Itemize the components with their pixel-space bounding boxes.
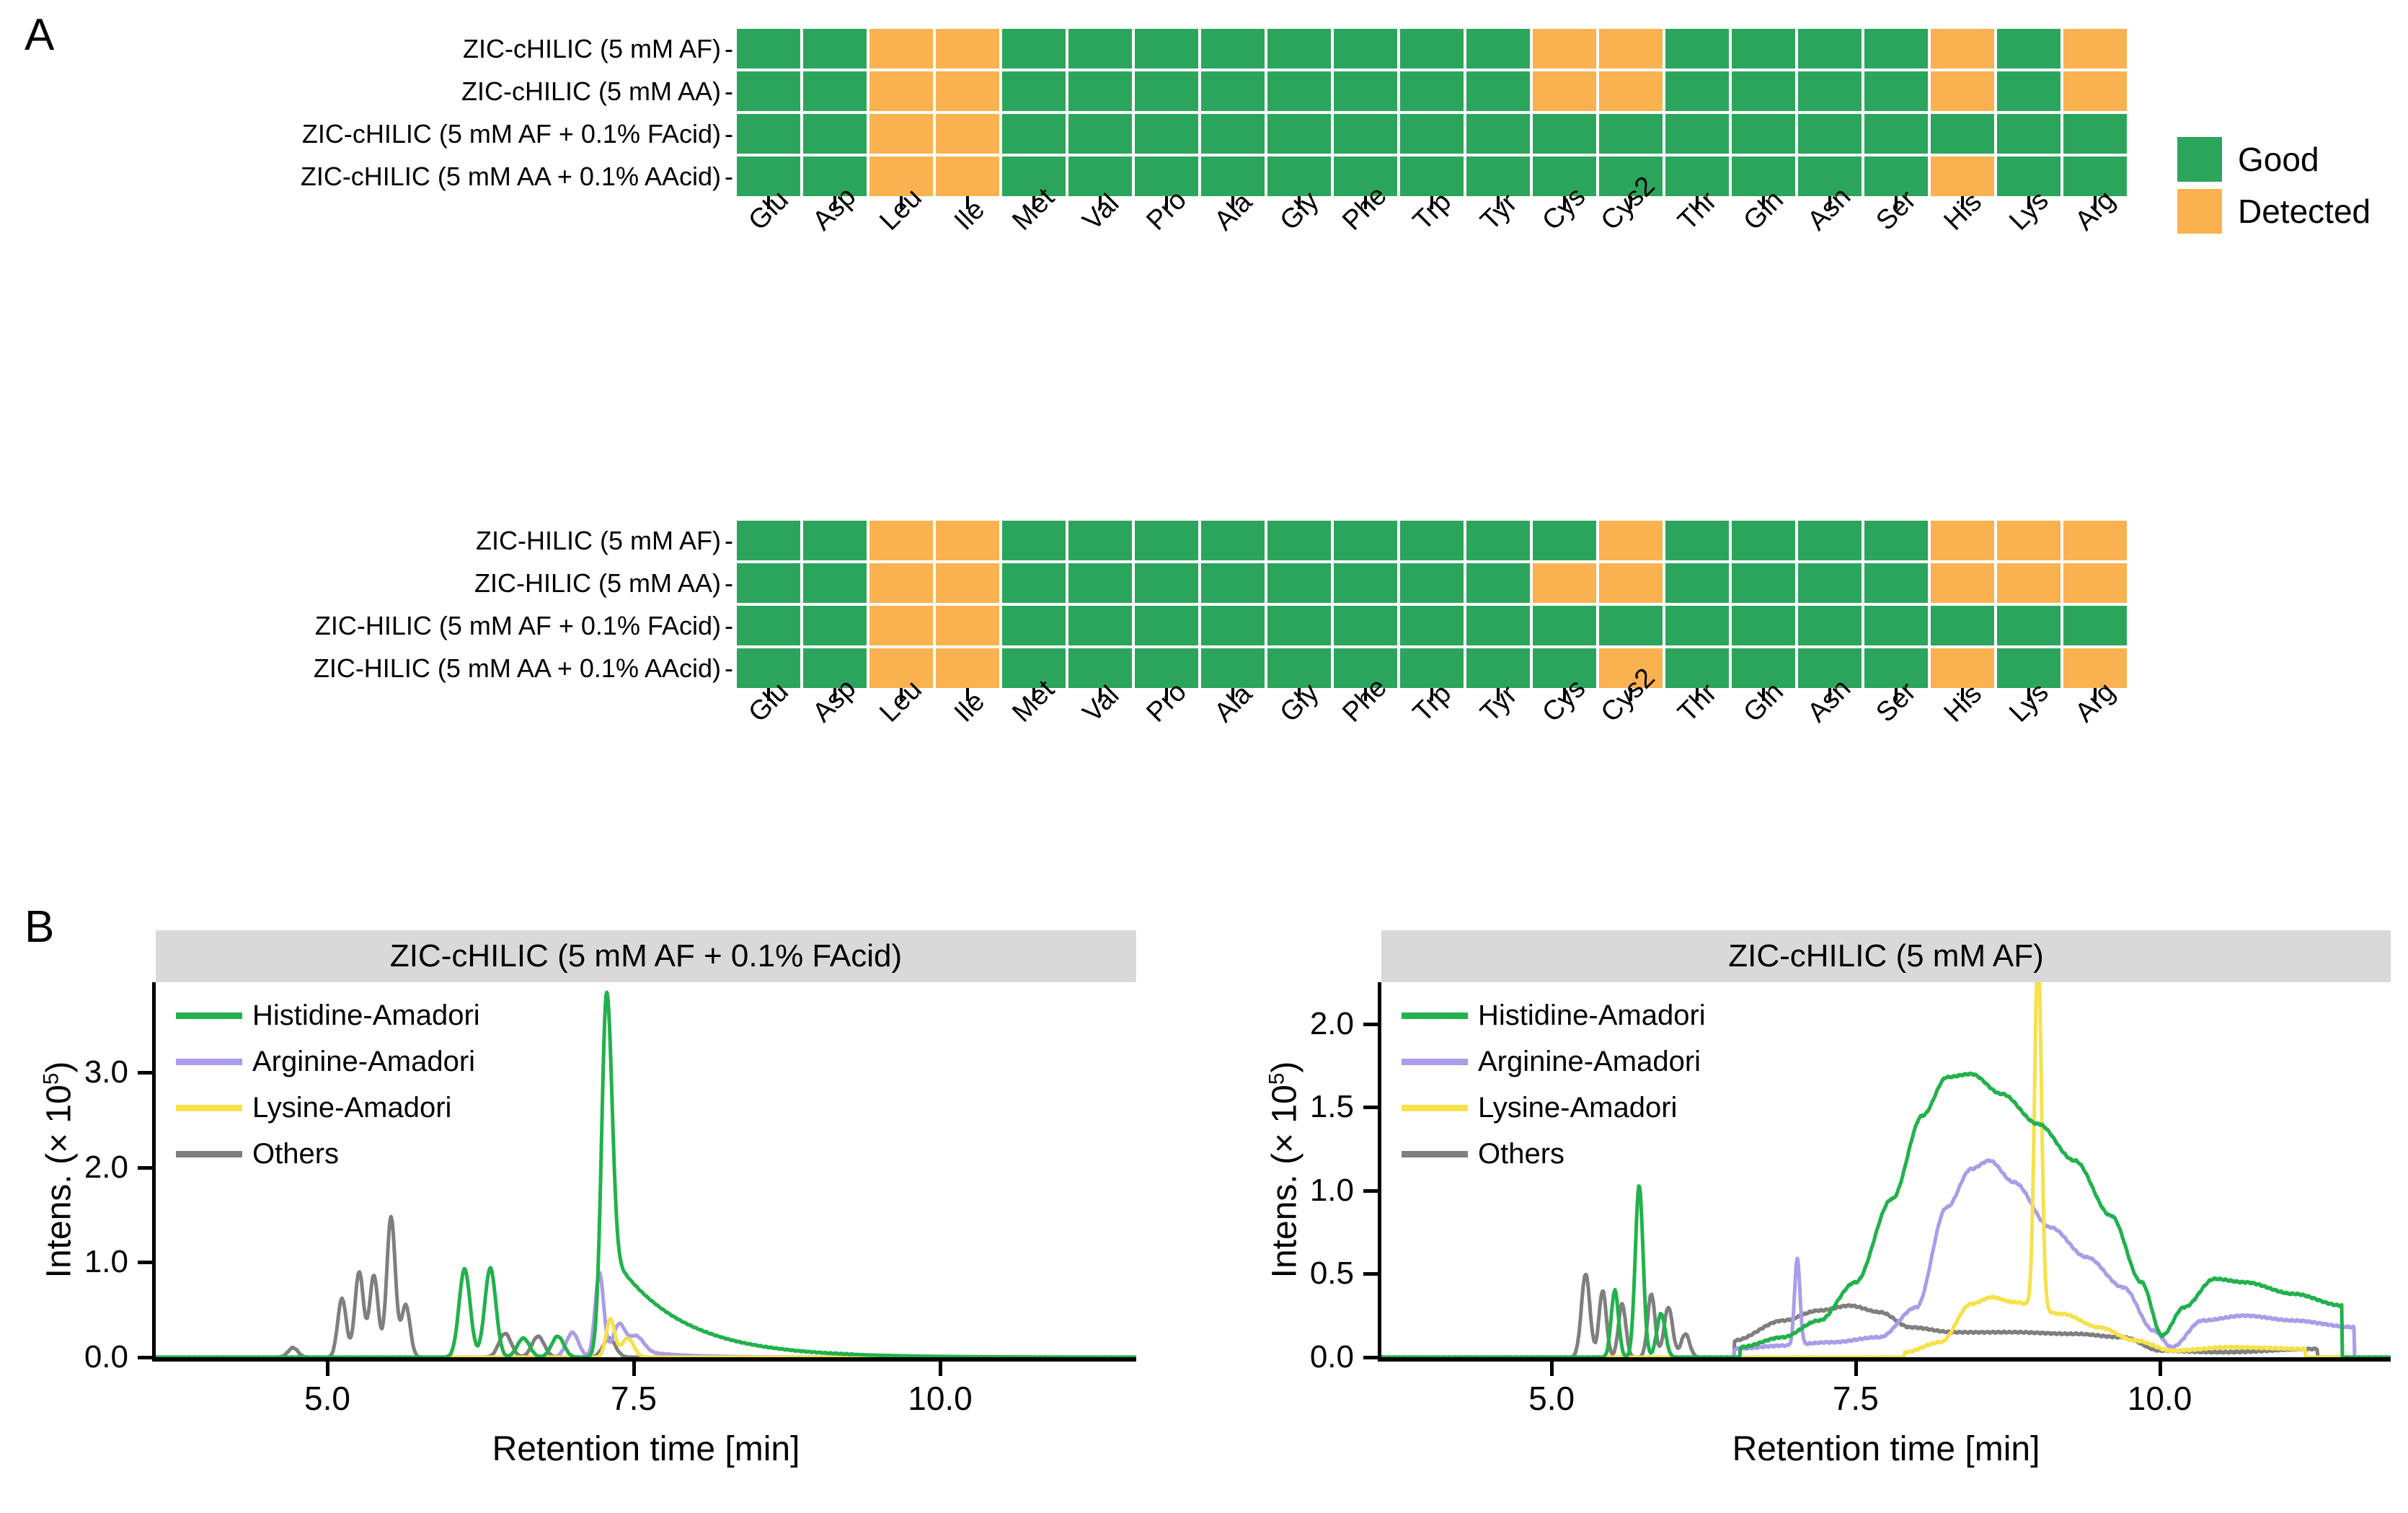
heatmap-cell[interactable] bbox=[936, 71, 999, 111]
x-tick-label: 7.5 bbox=[611, 1379, 657, 1418]
heatmap-cell[interactable] bbox=[1864, 563, 1928, 603]
heatmap-cell[interactable] bbox=[1201, 114, 1265, 154]
chart-legend-swatch bbox=[176, 1105, 242, 1111]
heatmap-cell[interactable] bbox=[1135, 114, 1198, 154]
heatmap-row-cells bbox=[737, 114, 2127, 154]
heatmap-cell[interactable] bbox=[1997, 521, 2060, 560]
heatmap-xtick-label: Asp bbox=[803, 211, 867, 297]
heatmap-cell[interactable] bbox=[1798, 606, 1862, 645]
heatmap-xtick-label: Gly bbox=[1267, 211, 1331, 297]
heatmap-cell[interactable] bbox=[1732, 29, 1795, 69]
heatmap-cell[interactable] bbox=[1732, 563, 1795, 603]
chart-legend-item: Others bbox=[176, 1131, 480, 1177]
y-axis-line bbox=[152, 982, 156, 1357]
heatmap-b: ZIC-HILIC (5 mM AF)-ZIC-HILIC (5 mM AA)-… bbox=[0, 521, 2130, 796]
x-axis-line bbox=[1378, 1357, 2391, 1362]
y-tick-label: 0.0 bbox=[14, 1339, 128, 1375]
heatmap-cell[interactable] bbox=[1665, 521, 1729, 560]
heatmap-cell[interactable] bbox=[1201, 71, 1265, 111]
chart-series-legend: Histidine-AmadoriArginine-AmadoriLysine-… bbox=[176, 992, 480, 1177]
heatmap-xtick-label: Thr bbox=[1665, 702, 1729, 789]
chart-legend-swatch bbox=[1402, 1059, 1468, 1065]
heatmap-row: ZIC-HILIC (5 mM AF)- bbox=[0, 521, 2130, 560]
heatmap-cell[interactable] bbox=[1267, 71, 1331, 111]
trace-arginine-amadori bbox=[1381, 1160, 2391, 1357]
heatmap-cell[interactable] bbox=[1533, 114, 1596, 154]
heatmap-cell[interactable] bbox=[1002, 563, 1066, 603]
x-tick-mark bbox=[326, 1362, 329, 1376]
heatmap-cell[interactable] bbox=[1533, 606, 1596, 645]
heatmap-cell[interactable] bbox=[936, 563, 999, 603]
chart-series-legend: Histidine-AmadoriArginine-AmadoriLysine-… bbox=[1402, 992, 1706, 1177]
chart-legend-swatch bbox=[176, 1013, 242, 1019]
heatmap-xtick-label: Phe bbox=[1334, 211, 1397, 297]
heatmap-row-cells bbox=[737, 521, 2127, 560]
heatmap-cell[interactable] bbox=[1267, 606, 1331, 645]
heatmap-row-tick: - bbox=[721, 563, 737, 603]
heatmap-cell[interactable] bbox=[737, 563, 800, 603]
heatmap-xtick-label: Cys2 bbox=[1599, 702, 1663, 789]
heatmap-cell[interactable] bbox=[1466, 29, 1530, 69]
chart-legend-label: Arginine-Amadori bbox=[252, 1046, 475, 1078]
heatmap-xtick-label: Val bbox=[1068, 211, 1132, 297]
heatmap-cell[interactable] bbox=[1931, 114, 1994, 154]
heatmap-cell[interactable] bbox=[1002, 114, 1066, 154]
chart-legend-swatch bbox=[176, 1059, 242, 1065]
chart-legend-item: Histidine-Amadori bbox=[1402, 992, 1706, 1038]
heatmap-xtick-label: Met bbox=[1002, 211, 1066, 297]
heatmap-row: ZIC-cHILIC (5 mM AA + 0.1% AAcid)- bbox=[0, 156, 2130, 196]
heatmap-cell[interactable] bbox=[1400, 29, 1464, 69]
heatmap-row-label: ZIC-HILIC (5 mM AA + 0.1% AAcid) bbox=[0, 648, 721, 688]
heatmap-xtick-label: Ser bbox=[1864, 702, 1928, 789]
heatmap-cell[interactable] bbox=[1201, 563, 1265, 603]
chart-legend-label: Histidine-Amadori bbox=[1478, 1000, 1706, 1032]
heatmap-cell[interactable] bbox=[1068, 563, 1132, 603]
heatmap-cell[interactable] bbox=[1400, 521, 1464, 560]
chart-legend-swatch bbox=[176, 1151, 242, 1157]
heatmap-a-rows: ZIC-cHILIC (5 mM AF)-ZIC-cHILIC (5 mM AA… bbox=[0, 29, 2130, 196]
heatmap-cell[interactable] bbox=[1997, 71, 2060, 111]
heatmap-row: ZIC-cHILIC (5 mM AA)- bbox=[0, 71, 2130, 111]
heatmap-xtick-label: Asp bbox=[803, 702, 867, 789]
heatmap-cell[interactable] bbox=[1599, 563, 1663, 603]
heatmap-xtick-label: Leu bbox=[869, 211, 933, 297]
y-tick-mark bbox=[1363, 1023, 1378, 1026]
heatmap-cell[interactable] bbox=[1665, 71, 1729, 111]
heatmap-cell[interactable] bbox=[1864, 521, 1928, 560]
heatmap-cell[interactable] bbox=[1400, 71, 1464, 111]
heatmap-cell[interactable] bbox=[1997, 114, 2060, 154]
heatmap-cell[interactable] bbox=[1931, 521, 1994, 560]
heatmap-b-rows: ZIC-HILIC (5 mM AF)-ZIC-HILIC (5 mM AA)-… bbox=[0, 521, 2130, 688]
chart-legend-item: Histidine-Amadori bbox=[176, 992, 480, 1038]
y-axis-title: Intens. (× 105) bbox=[1265, 1062, 1305, 1279]
y-tick-mark bbox=[138, 1071, 152, 1075]
heatmap-xtick-label: Cys2 bbox=[1599, 211, 1663, 297]
chart-legend-label: Lysine-Amadori bbox=[1478, 1092, 1677, 1124]
y-tick-mark bbox=[1363, 1106, 1378, 1109]
heatmap-cell[interactable] bbox=[1931, 29, 1994, 69]
trace-others bbox=[156, 1217, 1136, 1357]
chart-legend-label: Lysine-Amadori bbox=[252, 1092, 451, 1124]
heatmap-xtick-label: Gly bbox=[1267, 702, 1331, 789]
heatmap-xtick-label: Glu bbox=[737, 211, 800, 297]
heatmap-xtick-label: Gln bbox=[1732, 211, 1795, 297]
heatmap-xtick-label: Asn bbox=[1798, 702, 1862, 789]
heatmap-cell[interactable] bbox=[869, 71, 933, 111]
trace-arginine-amadori bbox=[156, 1273, 1136, 1357]
heatmap-cell[interactable] bbox=[1068, 114, 1132, 154]
chromatogram-left-title: ZIC-cHILIC (5 mM AF + 0.1% FAcid) bbox=[156, 930, 1136, 982]
heatmap-cell[interactable] bbox=[1798, 563, 1862, 603]
heatmap-cell[interactable] bbox=[2063, 521, 2127, 560]
heatmap-row-cells bbox=[737, 29, 2127, 69]
heatmap-cell[interactable] bbox=[737, 71, 800, 111]
x-axis-title: Retention time [min] bbox=[156, 1429, 1136, 1469]
y-axis-title: Intens. (× 105) bbox=[40, 1062, 79, 1279]
heatmap-xtick-label: Tyr bbox=[1466, 702, 1530, 789]
heatmap-xtick-label: Ala bbox=[1201, 702, 1265, 789]
heatmap-cell[interactable] bbox=[1732, 71, 1795, 111]
heatmap-cell[interactable] bbox=[869, 521, 933, 560]
chromatogram-right-title: ZIC-cHILIC (5 mM AF) bbox=[1381, 930, 2391, 982]
y-tick-label: 2.0 bbox=[1240, 1006, 1354, 1042]
heatmap-cell[interactable] bbox=[803, 71, 867, 111]
heatmap-cell[interactable] bbox=[869, 114, 933, 154]
heatmap-row-label: ZIC-HILIC (5 mM AF + 0.1% FAcid) bbox=[0, 606, 721, 645]
y-tick-mark bbox=[1363, 1272, 1378, 1276]
heatmap-cell[interactable] bbox=[1400, 606, 1464, 645]
heatmap-cell[interactable] bbox=[1267, 114, 1331, 154]
heatmap-cell[interactable] bbox=[1267, 521, 1331, 560]
heatmap-xtick-label: Tyr bbox=[1466, 211, 1530, 297]
heatmap-cell[interactable] bbox=[1400, 114, 1464, 154]
heatmap-row-label: ZIC-cHILIC (5 mM AF + 0.1% FAcid) bbox=[0, 114, 721, 154]
trace-lysine-amadori bbox=[156, 1319, 1136, 1357]
x-tick-mark bbox=[1854, 1362, 1858, 1376]
heatmap-cell[interactable] bbox=[1068, 606, 1132, 645]
heatmap-cell[interactable] bbox=[1533, 521, 1596, 560]
heatmap-cell[interactable] bbox=[2063, 606, 2127, 645]
heatmap-cell[interactable] bbox=[1334, 521, 1397, 560]
heatmap-row-label: ZIC-HILIC (5 mM AF) bbox=[0, 521, 721, 560]
heatmap-cell[interactable] bbox=[1068, 29, 1132, 69]
heatmap-row: ZIC-HILIC (5 mM AA)- bbox=[0, 563, 2130, 603]
heatmap-cell[interactable] bbox=[936, 521, 999, 560]
heatmap-row: ZIC-HILIC (5 mM AF + 0.1% FAcid)- bbox=[0, 606, 2130, 645]
heatmap-b-xaxis: GluAspLeuIleMetValProAlaGlyPheTrpTyrCysC… bbox=[737, 688, 2130, 796]
heatmap-row: ZIC-HILIC (5 mM AA + 0.1% AAcid)- bbox=[0, 648, 2130, 688]
chart-legend-item: Others bbox=[1402, 1131, 1706, 1177]
heatmap-row-tick: - bbox=[721, 156, 737, 196]
heatmap-cell[interactable] bbox=[737, 29, 800, 69]
heatmap-cell[interactable] bbox=[1732, 114, 1795, 154]
heatmap-cell[interactable] bbox=[1135, 29, 1198, 69]
heatmap-cell[interactable] bbox=[1466, 521, 1530, 560]
heatmap-row-tick: - bbox=[721, 114, 737, 154]
heatmap-cell[interactable] bbox=[1599, 521, 1663, 560]
x-tick-label: 10.0 bbox=[908, 1379, 973, 1418]
chart-legend-label: Others bbox=[1478, 1138, 1564, 1170]
heatmap-cell[interactable] bbox=[1798, 114, 1862, 154]
heatmap-cell[interactable] bbox=[1931, 71, 1994, 111]
heatmap-cell[interactable] bbox=[1135, 521, 1198, 560]
heatmap-a-xaxis: GluAspLeuIleMetValProAlaGlyPheTrpTyrCysC… bbox=[737, 196, 2130, 304]
heatmap-cell[interactable] bbox=[1864, 114, 1928, 154]
heatmap-xtick-label: His bbox=[1931, 702, 1994, 789]
heatmap-cell[interactable] bbox=[1201, 606, 1265, 645]
heatmap-cell[interactable] bbox=[1201, 29, 1265, 69]
heatmap-a: ZIC-cHILIC (5 mM AF)-ZIC-cHILIC (5 mM AA… bbox=[0, 29, 2130, 304]
heatmap-cell[interactable] bbox=[1466, 71, 1530, 111]
x-axis-title: Retention time [min] bbox=[1381, 1429, 2391, 1469]
heatmap-cell[interactable] bbox=[737, 521, 800, 560]
legend-item: Good bbox=[2177, 137, 2371, 182]
heatmap-cell[interactable] bbox=[2063, 114, 2127, 154]
x-tick-mark bbox=[632, 1362, 636, 1376]
x-tick-label: 5.0 bbox=[304, 1379, 350, 1418]
legend-swatch-good bbox=[2177, 137, 2222, 182]
heatmap-xtick-label: Trp bbox=[1400, 702, 1464, 789]
heatmap-cell[interactable] bbox=[1135, 606, 1198, 645]
chart-legend-item: Lysine-Amadori bbox=[1402, 1085, 1706, 1131]
heatmap-cell[interactable] bbox=[1002, 606, 1066, 645]
heatmap-cell[interactable] bbox=[1002, 521, 1066, 560]
heatmap-cell[interactable] bbox=[1267, 29, 1331, 69]
chart-legend-swatch bbox=[1402, 1105, 1468, 1111]
heatmap-cell[interactable] bbox=[1665, 563, 1729, 603]
y-axis-line bbox=[1378, 982, 1381, 1357]
heatmap-xtick-label: His bbox=[1931, 211, 1994, 297]
heatmap-cell[interactable] bbox=[936, 156, 999, 196]
x-tick-mark bbox=[939, 1362, 942, 1376]
y-tick-mark bbox=[138, 1356, 152, 1359]
heatmap-cell[interactable] bbox=[1400, 563, 1464, 603]
heatmap-cell[interactable] bbox=[1864, 71, 1928, 111]
heatmap-cell[interactable] bbox=[803, 521, 867, 560]
heatmap-xtick-label: Arg bbox=[2063, 211, 2127, 297]
heatmap-cell[interactable] bbox=[936, 114, 999, 154]
heatmap-cell[interactable] bbox=[1931, 606, 1994, 645]
heatmap-cell[interactable] bbox=[803, 29, 867, 69]
chart-legend-label: Arginine-Amadori bbox=[1478, 1046, 1701, 1078]
heatmap-row-label: ZIC-cHILIC (5 mM AA + 0.1% AAcid) bbox=[0, 156, 721, 196]
heatmap-cell[interactable] bbox=[1334, 71, 1397, 111]
heatmap-cell[interactable] bbox=[1334, 114, 1397, 154]
heatmap-cell[interactable] bbox=[1334, 563, 1397, 603]
legend-swatch-detected bbox=[2177, 189, 2222, 234]
heatmap-cell[interactable] bbox=[2063, 563, 2127, 603]
chromatogram-right-chart: ZIC-cHILIC (5 mM AF) 0.00.51.01.52.05.07… bbox=[1240, 930, 2394, 1500]
heatmap-xtick-label: Ile bbox=[936, 702, 999, 789]
heatmap-xtick-label: Lys bbox=[1997, 702, 2060, 789]
y-tick-mark bbox=[138, 1166, 152, 1170]
heatmap-cell[interactable] bbox=[2063, 29, 2127, 69]
heatmap-xtick-label: Gln bbox=[1732, 702, 1795, 789]
x-tick-label: 10.0 bbox=[2128, 1379, 2192, 1418]
heatmap-cell[interactable] bbox=[1599, 114, 1663, 154]
heatmap-cell[interactable] bbox=[1798, 71, 1862, 111]
heatmap-cell[interactable] bbox=[1732, 521, 1795, 560]
chart-legend-swatch bbox=[1402, 1151, 1468, 1157]
heatmap-cell[interactable] bbox=[1002, 71, 1066, 111]
heatmap-cell[interactable] bbox=[1599, 71, 1663, 111]
heatmap-cell[interactable] bbox=[737, 606, 800, 645]
heatmap-cell[interactable] bbox=[1334, 606, 1397, 645]
chart-legend-item: Lysine-Amadori bbox=[176, 1085, 480, 1131]
x-tick-mark bbox=[2159, 1362, 2162, 1376]
heatmap-cell[interactable] bbox=[1135, 563, 1198, 603]
heatmap-cell[interactable] bbox=[1533, 29, 1596, 69]
y-tick-label: 0.0 bbox=[1240, 1339, 1354, 1375]
x-axis-line bbox=[152, 1357, 1136, 1362]
heatmap-cell[interactable] bbox=[1135, 71, 1198, 111]
heatmap-xtick-label: Ile bbox=[936, 211, 999, 297]
heatmap-row-cells bbox=[737, 563, 2127, 603]
heatmap-cell[interactable] bbox=[1798, 29, 1862, 69]
heatmap-cell[interactable] bbox=[803, 563, 867, 603]
heatmap-cell[interactable] bbox=[1466, 563, 1530, 603]
heatmap-row-tick: - bbox=[721, 71, 737, 111]
x-tick-label: 7.5 bbox=[1833, 1379, 1879, 1418]
x-tick-mark bbox=[1550, 1362, 1554, 1376]
heatmap-row-label: ZIC-cHILIC (5 mM AA) bbox=[0, 71, 721, 111]
heatmap-cell[interactable] bbox=[1997, 563, 2060, 603]
chart-legend-label: Others bbox=[252, 1138, 339, 1170]
heatmap-cell[interactable] bbox=[1665, 606, 1729, 645]
heatmap-cell[interactable] bbox=[1599, 606, 1663, 645]
heatmap-cell[interactable] bbox=[1665, 114, 1729, 154]
heatmap-cell[interactable] bbox=[869, 29, 933, 69]
heatmap-cell[interactable] bbox=[869, 606, 933, 645]
heatmap-cell[interactable] bbox=[1068, 156, 1132, 196]
chart-legend-item: Arginine-Amadori bbox=[176, 1038, 480, 1085]
heatmap-cell[interactable] bbox=[1267, 563, 1331, 603]
heatmap-cell[interactable] bbox=[1997, 606, 2060, 645]
heatmap-xtick-label: Pro bbox=[1135, 211, 1198, 297]
heatmap-xtick-label: Trp bbox=[1400, 211, 1464, 297]
heatmap-cell[interactable] bbox=[1466, 606, 1530, 645]
heatmap-cell[interactable] bbox=[1931, 563, 1994, 603]
heatmap-cell[interactable] bbox=[1599, 29, 1663, 69]
legend-item: Detected bbox=[2177, 189, 2371, 234]
heatmap-cell[interactable] bbox=[1466, 114, 1530, 154]
chromatogram-left-chart: ZIC-cHILIC (5 mM AF + 0.1% FAcid) 0.01.0… bbox=[14, 930, 1168, 1500]
heatmap-xtick-label: Lys bbox=[1997, 211, 2060, 297]
heatmap-cell[interactable] bbox=[1997, 29, 2060, 69]
chart-legend-label: Histidine-Amadori bbox=[252, 1000, 480, 1032]
heatmap-cell[interactable] bbox=[2063, 71, 2127, 111]
heatmap-xtick-label: Thr bbox=[1665, 211, 1729, 297]
heatmap-xtick-label: Cys bbox=[1533, 702, 1596, 789]
heatmap-cell[interactable] bbox=[869, 563, 933, 603]
chart-legend-swatch bbox=[1402, 1013, 1468, 1019]
heatmap-row: ZIC-cHILIC (5 mM AF + 0.1% FAcid)- bbox=[0, 114, 2130, 154]
y-tick-mark bbox=[138, 1261, 152, 1264]
heatmap-cell[interactable] bbox=[1864, 29, 1928, 69]
heatmap-cell[interactable] bbox=[936, 606, 999, 645]
heatmap-xtick-label: Phe bbox=[1334, 702, 1397, 789]
heatmap-xtick-label: Arg bbox=[2063, 702, 2127, 789]
heatmap-xtick-label: Ala bbox=[1201, 211, 1265, 297]
legend-item-label: Good bbox=[2238, 140, 2319, 179]
y-tick-mark bbox=[1363, 1189, 1378, 1193]
heatmap-legend: GoodDetected bbox=[2177, 137, 2371, 241]
x-tick-label: 5.0 bbox=[1528, 1379, 1575, 1418]
heatmap-xtick-label: Asn bbox=[1798, 211, 1862, 297]
heatmap-cell[interactable] bbox=[1798, 521, 1862, 560]
chart-legend-item: Arginine-Amadori bbox=[1402, 1038, 1706, 1085]
heatmap-cell[interactable] bbox=[1533, 563, 1596, 603]
heatmap-cell[interactable] bbox=[1201, 521, 1265, 560]
heatmap-row-label: ZIC-cHILIC (5 mM AF) bbox=[0, 29, 721, 69]
heatmap-cell[interactable] bbox=[1864, 606, 1928, 645]
heatmap-row-tick: - bbox=[721, 648, 737, 688]
heatmap-xtick-label: Val bbox=[1068, 702, 1132, 789]
heatmap-cell[interactable] bbox=[803, 606, 867, 645]
heatmap-a-xlabels: GluAspLeuIleMetValProAlaGlyPheTrpTyrCysC… bbox=[737, 211, 2130, 297]
heatmap-cell[interactable] bbox=[803, 114, 867, 154]
heatmap-cell[interactable] bbox=[737, 114, 800, 154]
heatmap-row-tick: - bbox=[721, 521, 737, 560]
heatmap-xtick-label: Cys bbox=[1533, 211, 1596, 297]
heatmap-cell[interactable] bbox=[1002, 29, 1066, 69]
heatmap-row-tick: - bbox=[721, 29, 737, 69]
heatmap-xtick-label: Glu bbox=[737, 702, 800, 789]
heatmap-xtick-label: Leu bbox=[869, 702, 933, 789]
heatmap-row-cells bbox=[737, 606, 2127, 645]
heatmap-cell[interactable] bbox=[1665, 29, 1729, 69]
heatmap-cell[interactable] bbox=[936, 648, 999, 688]
heatmap-xtick-label: Ser bbox=[1864, 211, 1928, 297]
heatmap-b-xlabels: GluAspLeuIleMetValProAlaGlyPheTrpTyrCysC… bbox=[737, 702, 2130, 789]
heatmap-cell[interactable] bbox=[1068, 521, 1132, 560]
heatmap-cell[interactable] bbox=[936, 29, 999, 69]
heatmap-row-tick: - bbox=[721, 606, 737, 645]
y-tick-mark bbox=[1363, 1356, 1378, 1359]
heatmap-cell[interactable] bbox=[1334, 29, 1397, 69]
legend-item-label: Detected bbox=[2238, 192, 2371, 231]
heatmap-row-cells bbox=[737, 71, 2127, 111]
heatmap-xtick-label: Pro bbox=[1135, 702, 1198, 789]
heatmap-cell[interactable] bbox=[1068, 648, 1132, 688]
heatmap-cell[interactable] bbox=[1533, 71, 1596, 111]
heatmap-xtick-label: Met bbox=[1002, 702, 1066, 789]
heatmap-row-label: ZIC-HILIC (5 mM AA) bbox=[0, 563, 721, 603]
heatmap-cell[interactable] bbox=[1732, 606, 1795, 645]
heatmap-row: ZIC-cHILIC (5 mM AF)- bbox=[0, 29, 2130, 69]
heatmap-cell[interactable] bbox=[1068, 71, 1132, 111]
